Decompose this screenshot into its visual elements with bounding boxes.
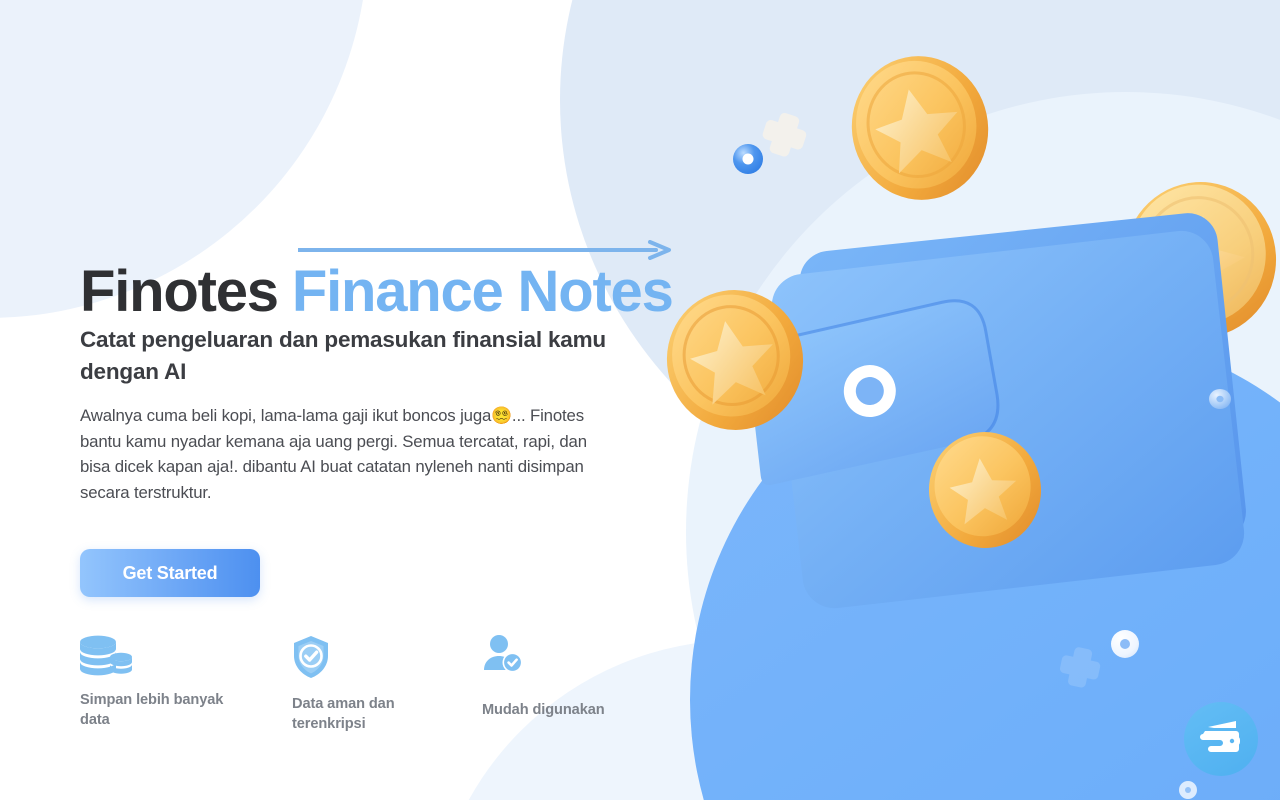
decor-cross-soft [1057,644,1103,690]
feature-label-security: Data aman dan terenkripsi [292,695,467,734]
database-stack-icon [80,635,292,679]
feature-item-storage: Simpan lebih banyak data [80,635,292,734]
decorative-arrow [298,240,672,260]
hero-landing-page: FinotesFinance Notes Catat pengeluaran d… [0,0,1280,800]
feature-item-security: Data aman dan terenkripsi [292,635,482,734]
hero-content: FinotesFinance Notes Catat pengeluaran d… [80,0,700,800]
wallet-body [739,228,1248,615]
feature-label-storage: Simpan lebih banyak data [80,691,255,730]
feature-label-usability: Mudah digunakan [482,701,657,721]
shield-check-icon [292,635,482,679]
user-verified-icon [482,635,682,679]
page-subtitle: Catat pengeluaran dan pemasukan finansia… [80,324,610,388]
feature-item-usability: Mudah digunakan [482,635,682,734]
wallet-logo-badge[interactable] [1184,702,1258,776]
wallet-3d-illustration [640,0,1280,800]
page-description: Awalnya cuma beli kopi, lama-lama gaji i… [80,403,620,505]
feature-list: Simpan lebih banyak data Data aman dan t… [80,635,700,734]
page-title: FinotesFinance Notes [80,262,673,323]
get-started-button[interactable]: Get Started [80,549,260,597]
wallet-logo-icon [1200,719,1242,759]
decor-torus-white [1111,630,1139,658]
decor-dot-small [1179,781,1197,799]
decor-torus-small-blue [1209,389,1231,409]
coin-top-left [839,43,1002,212]
title-accent-text: Finance Notes [292,259,673,324]
decor-cross-cream [758,108,811,161]
decor-torus-blue [733,144,763,174]
title-brand-text: Finotes [80,259,278,324]
